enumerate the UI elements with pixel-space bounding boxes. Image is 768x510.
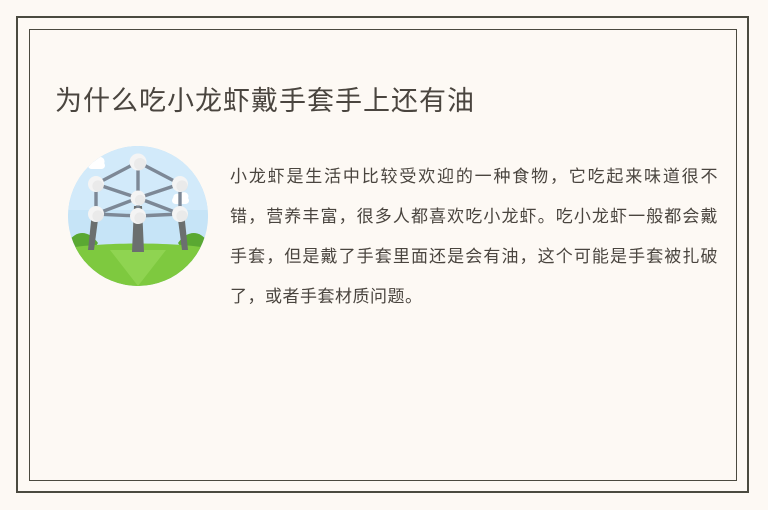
article-thumbnail (68, 146, 208, 286)
cloud-left (88, 157, 105, 169)
article-body-text: 小龙虾是生活中比较受欢迎的一种食物，它吃起来味道很不错，营养丰富，很多人都喜欢吃… (230, 157, 718, 317)
article-title: 为什么吃小龙虾戴手套手上还有油 (55, 82, 695, 120)
grass-shade-left (68, 258, 86, 286)
article-card-page: 为什么吃小龙虾戴手套手上还有油 (0, 0, 768, 510)
grass-shade-right (190, 258, 208, 286)
atomium-illustration-svg (68, 146, 208, 286)
